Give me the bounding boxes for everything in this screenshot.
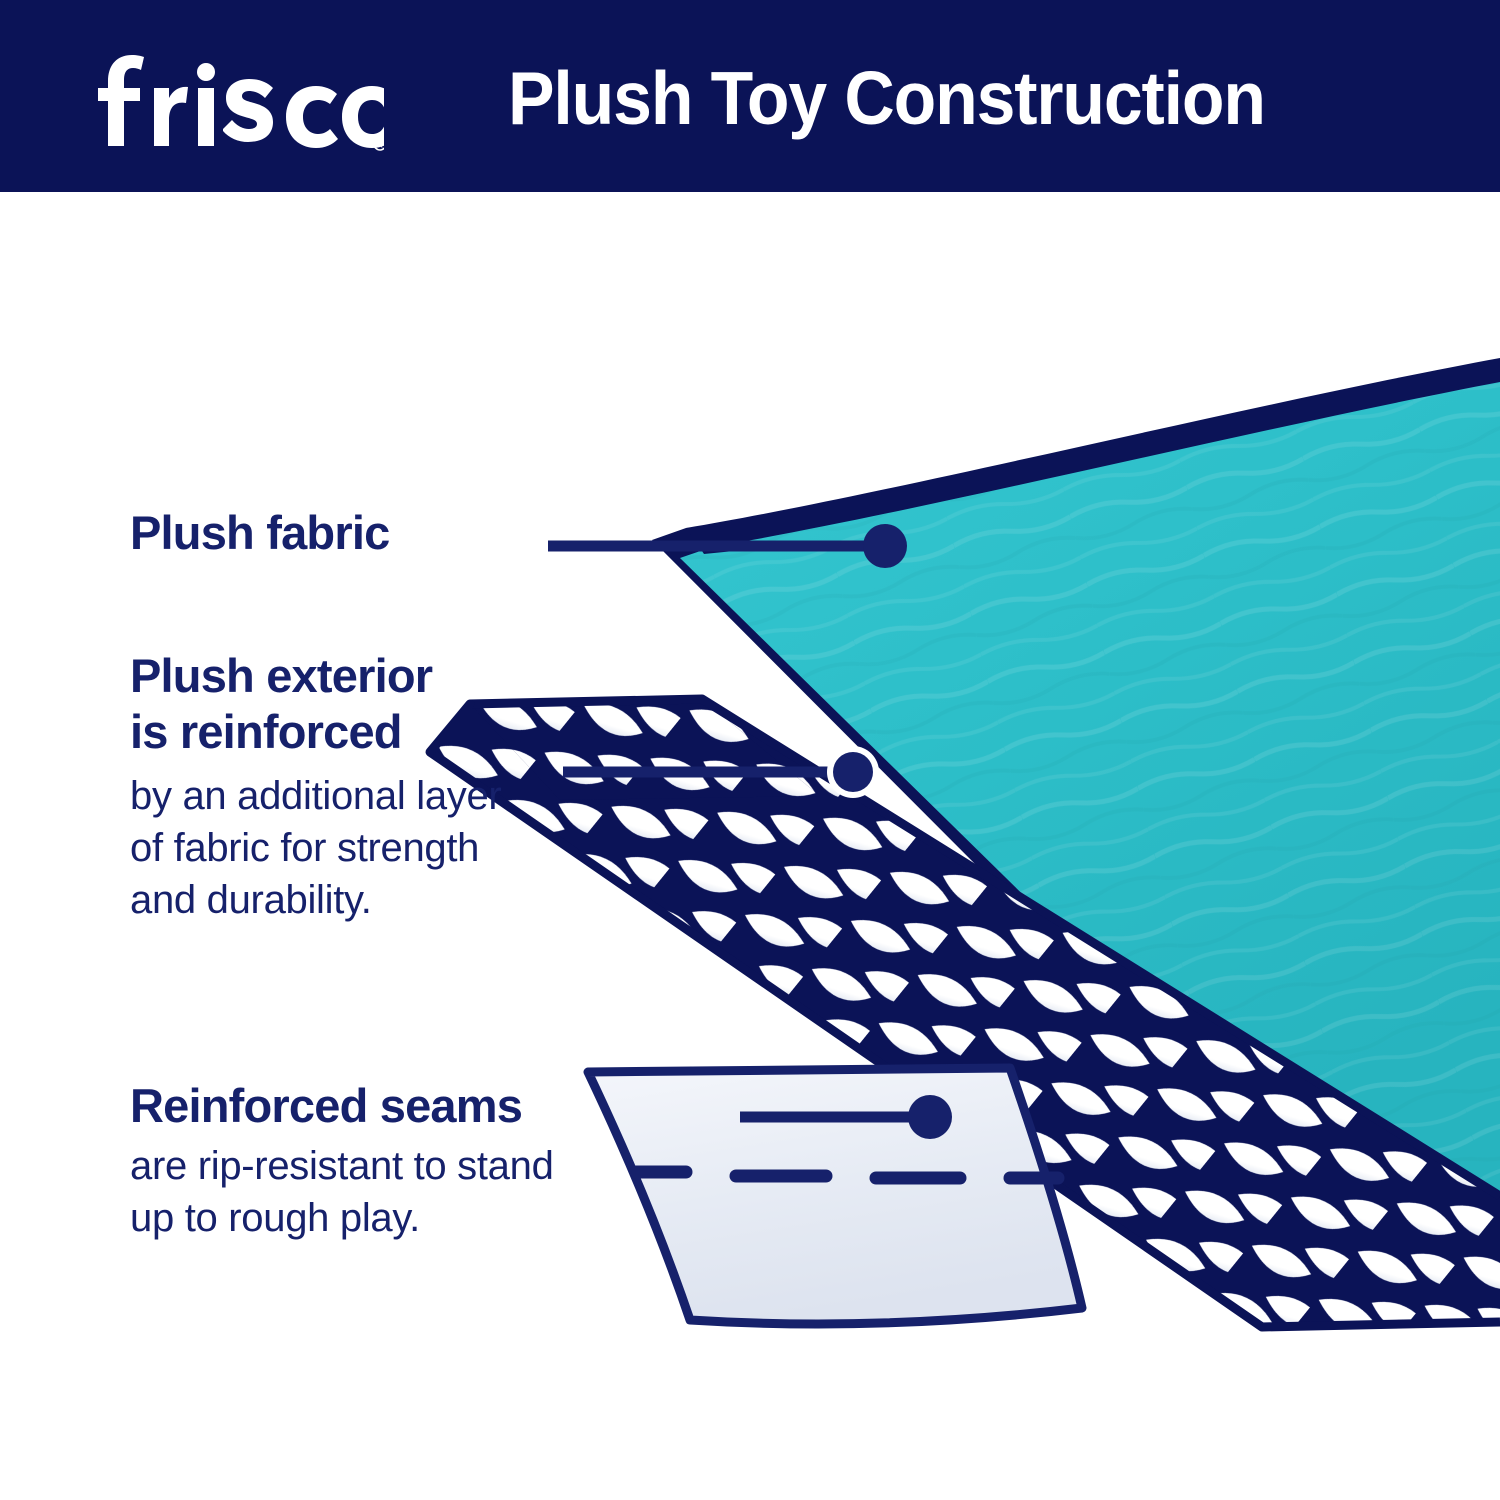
callout-plush-exterior-body-line-2: of fabric for strength	[130, 822, 501, 874]
page-header: R Plush Toy Construction	[0, 0, 1500, 192]
callout-plush-exterior: Plush exterior is reinforced by an addit…	[130, 648, 501, 926]
callout-plush-fabric: Plush fabric	[130, 505, 389, 561]
callout-plush-fabric-heading: Plush fabric	[130, 505, 389, 561]
infographic-page: R Plush Toy Construction	[0, 0, 1500, 1500]
callout-plush-exterior-heading-line-2: is reinforced	[130, 704, 501, 760]
page-title: Plush Toy Construction	[508, 46, 1265, 150]
callout-reinforced-seams-heading: Reinforced seams	[130, 1078, 554, 1134]
callout-plush-exterior-body-line-1: by an additional layer	[130, 770, 501, 822]
callout-reinforced-seams-body: are rip-resistant to stand up to rough p…	[130, 1140, 554, 1244]
seam-flap	[588, 1068, 1082, 1324]
svg-text:R: R	[377, 141, 383, 150]
callout-reinforced-seams-body-line-1: are rip-resistant to stand	[130, 1140, 554, 1192]
callout-reinforced-seams-body-line-2: up to rough play.	[130, 1192, 554, 1244]
callout-reinforced-seams: Reinforced seams are rip-resistant to st…	[130, 1078, 554, 1244]
callout-plush-exterior-body-line-3: and durability.	[130, 874, 501, 926]
frisco-logo: R	[84, 44, 384, 152]
callout-plush-exterior-body: by an additional layer of fabric for str…	[130, 770, 501, 926]
callout-plush-exterior-heading-line-1: Plush exterior	[130, 648, 501, 704]
